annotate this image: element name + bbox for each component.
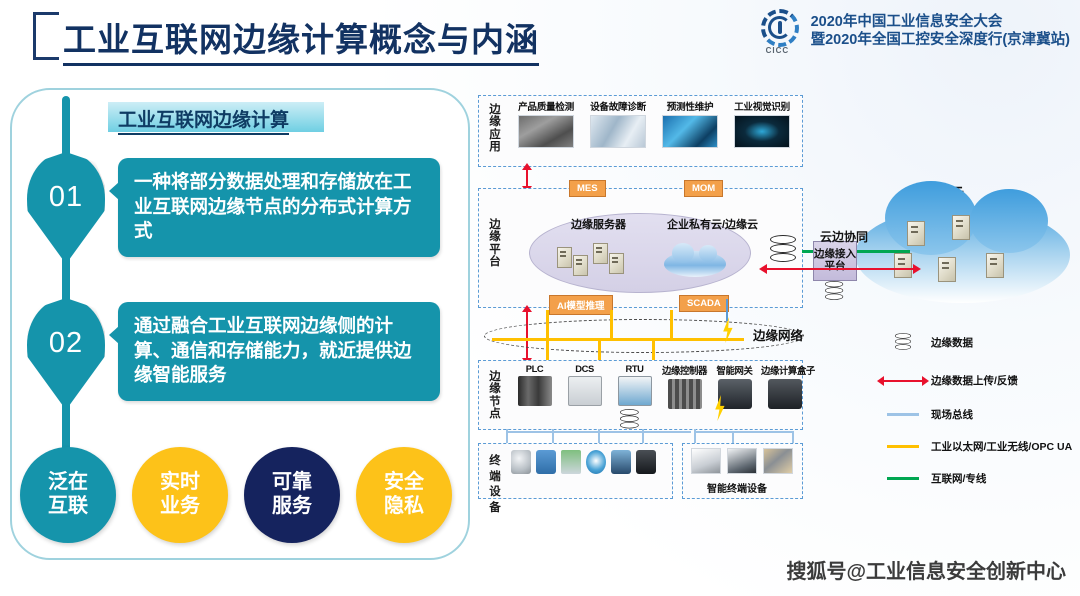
bus-stub [670,310,673,340]
bus-stub [546,310,549,340]
legend-row-ethernet: 工业以太网/工业无线/OPC UA [875,439,1072,454]
terminal-icon-list [511,450,656,474]
legend-symbol-double-arrow [875,380,931,382]
node-item: 智能网关 [711,363,758,409]
line-icon [887,413,919,416]
tag-mes: MES [569,180,606,197]
legend-symbol-fieldbus [875,413,931,416]
cloud-server-icon [894,253,912,278]
legend-row-fieldbus: 现场总线 [875,407,973,422]
flow-meter-icon [586,450,606,474]
feature-2-line2: 服务 [272,495,312,519]
platform-caption-server: 边缘服务器 [571,219,626,231]
layer-label-application: 边缘应用 [485,104,505,154]
conference-banner: CICC 2020年中国工业信息安全大会 暨2020年全国工控安全深度行(京津冀… [759,9,1070,55]
wireless-link-line [726,299,728,321]
terminal-block-icon [561,450,581,474]
feature-3-line2: 隐私 [384,495,424,519]
fieldbus-trunk [694,431,794,433]
bus-stub [546,340,549,362]
server-rack-icon [609,253,624,274]
slide-root: 工业互联网边缘计算概念与内涵 CICC 2020年中国工业信息安全大会 暨202… [0,0,1080,596]
valve-icon [536,450,556,474]
cloud-server-icon [952,215,970,240]
application-caption-3: 工业视觉识别 [729,99,795,113]
data-flow-arrow-app-platform [526,169,528,187]
motor-icon [636,450,656,474]
layer-smart-terminal-device: 智能终端设备 [682,443,803,499]
conference-line-2: 暨2020年全国工控安全深度行(京津冀站) [811,32,1070,50]
node-item: PLC [511,363,558,409]
feature-circle-1: 实时 业务 [132,447,228,543]
conference-text: 2020年中国工业信息安全大会 暨2020年全国工控安全深度行(京津冀站) [811,14,1070,49]
legend-symbol-ethernet [875,445,931,448]
feature-0-line1: 泛在 [48,471,88,495]
database-icon [895,333,911,353]
bus-stub [598,340,601,362]
edge-network-label: 边缘网络 [753,325,803,344]
server-rack-icon [573,255,588,276]
legend-label-3: 工业以太网/工业无线/OPC UA [931,439,1072,454]
node-item: RTU [611,363,658,409]
feature-circle-0: 泛在 互联 [20,447,116,543]
cloud-edge-collaboration-label: 云边协同 [820,228,868,245]
node-caption-3: 边缘控制器 [661,363,708,377]
ip-camera-icon [691,448,721,474]
left-panel-section-title: 工业互联网边缘计算 [118,105,289,135]
step-text-02: 通过融合工业互联网边缘侧的计算、通信和存储能力，就近提供边缘智能服务 [118,302,440,401]
feature-circle-3: 安全 隐私 [356,447,452,543]
step-number-02: 02 [49,327,83,360]
step-number-01: 01 [49,181,83,214]
feature-1-line1: 实时 [160,471,200,495]
agv-icon [763,448,793,474]
layer-label-platform: 边缘平台 [485,219,505,269]
database-icon [825,281,843,303]
cicc-logo-icon: CICC [759,9,803,55]
bus-stub [610,310,613,340]
line-icon [887,445,919,448]
legend-label-0: 边缘数据 [931,335,973,350]
edge-access-platform-box: 边缘接入平台 [813,241,857,281]
smart-machine-icon [727,448,757,474]
application-item: 预测性维护 [657,99,723,148]
feature-circle-group: 泛在 互联 实时 业务 可靠 服务 安全 隐私 [20,447,470,547]
industrial-ethernet-bus [492,338,744,341]
feature-1-line2: 业务 [160,495,200,519]
layer-terminal-device: 终端设备 [478,443,673,499]
letter-i-icon [778,21,782,34]
legend-label-1: 边缘数据上传/反馈 [931,373,1018,388]
cicc-logo-text: CICC [766,46,790,55]
edge-controller-icon [668,379,702,409]
layer-edge-platform: 边缘平台 MES MOM AI模型推理 SCADA 边缘服务器 企业私有云/边缘… [478,188,803,308]
cloud-server-icon [907,221,925,246]
rtu-icon [618,376,652,406]
legend-row-internet: 互联网/专线 [875,471,986,486]
page-title: 工业互联网边缘计算概念与内涵 [63,13,539,66]
smart-terminal-label: 智能终端设备 [707,480,767,495]
feature-circle-2: 可靠 服务 [244,447,340,543]
architecture-diagram: 边缘应用 产品质量检测 设备故障诊断 预测性维护 工业视觉识别 [470,95,1070,525]
node-item: DCS [561,363,608,409]
layer-edge-node: 边缘节点 PLC DCS RTU 边缘控制器 [478,360,803,430]
robot-arm-icon [611,450,631,474]
node-caption-5: 边缘计算盒子 [761,363,808,377]
node-caption-2: RTU [611,363,658,374]
legend-label-4: 互联网/专线 [931,471,986,486]
node-item-list: PLC DCS RTU 边缘控制器 智能网关 [511,363,808,409]
feature-2-line1: 可靠 [272,471,312,495]
legend-label-2: 现场总线 [931,407,973,422]
feature-3-line1: 安全 [384,471,424,495]
node-item: 边缘控制器 [661,363,708,409]
node-caption-1: DCS [561,363,608,374]
application-item-list: 产品质量检测 设备故障诊断 预测性维护 工业视觉识别 [513,99,795,148]
platform-caption-private-cloud: 企业私有云/边缘云 [667,219,745,231]
factory-photo-icon [518,115,574,148]
plc-icon [518,376,552,406]
watermark-text: 搜狐号@工业信息安全创新中心 [786,555,1066,584]
double-arrow-icon [883,380,923,382]
equipment-photo-icon [590,115,646,148]
server-rack-icon [557,247,572,268]
node-caption-0: PLC [511,363,558,374]
step-text-01: 一种将部分数据处理和存储放在工业互联网边缘节点的分布式计算方式 [118,158,440,257]
cloud-server-icon [986,253,1004,278]
legend-row-edge-data: 边缘数据 [875,335,973,350]
database-icon [620,409,639,432]
tag-scada: SCADA [679,295,729,312]
legend-symbol-internet [875,477,931,480]
bus-stub [652,340,655,362]
conference-line-1: 2020年中国工业信息安全大会 [811,14,1070,32]
database-icon [770,235,796,267]
edge-box-icon [768,379,802,409]
tag-mom: MOM [684,180,723,197]
feature-0-line2: 互联 [48,495,88,519]
left-panel-header-band: 工业互联网边缘计算 [108,102,324,132]
layer-label-node: 边缘节点 [485,371,505,421]
dcs-icon [568,376,602,406]
tag-ai-inference: AI模型推理 [549,295,613,315]
application-item: 工业视觉识别 [729,99,795,148]
legend-row-data-upload: 边缘数据上传/反馈 [875,373,1018,388]
layer-label-terminal: 终端设备 [485,454,505,516]
cloud-icon [664,251,726,277]
line-icon [887,477,919,480]
application-caption-1: 设备故障诊断 [585,99,651,113]
title-bracket-decoration [33,12,59,60]
node-item: 边缘计算盒子 [761,363,808,409]
smart-gateway-icon [718,379,752,409]
layer-edge-application: 边缘应用 产品质量检测 设备故障诊断 预测性维护 工业视觉识别 [478,95,803,167]
smart-terminal-icon-list [691,448,793,474]
server-rack-icon [593,243,608,264]
application-caption-2: 预测性维护 [657,99,723,113]
application-item: 产品质量检测 [513,99,579,148]
vision-eye-photo-icon [734,115,790,148]
application-item: 设备故障诊断 [585,99,651,148]
application-caption-0: 产品质量检测 [513,99,579,113]
data-upload-feedback-arrow [766,268,914,270]
node-caption-4: 智能网关 [711,363,758,377]
sensor-icon [511,450,531,474]
cloud-server-icon [938,257,956,282]
tablet-photo-icon [662,115,718,148]
